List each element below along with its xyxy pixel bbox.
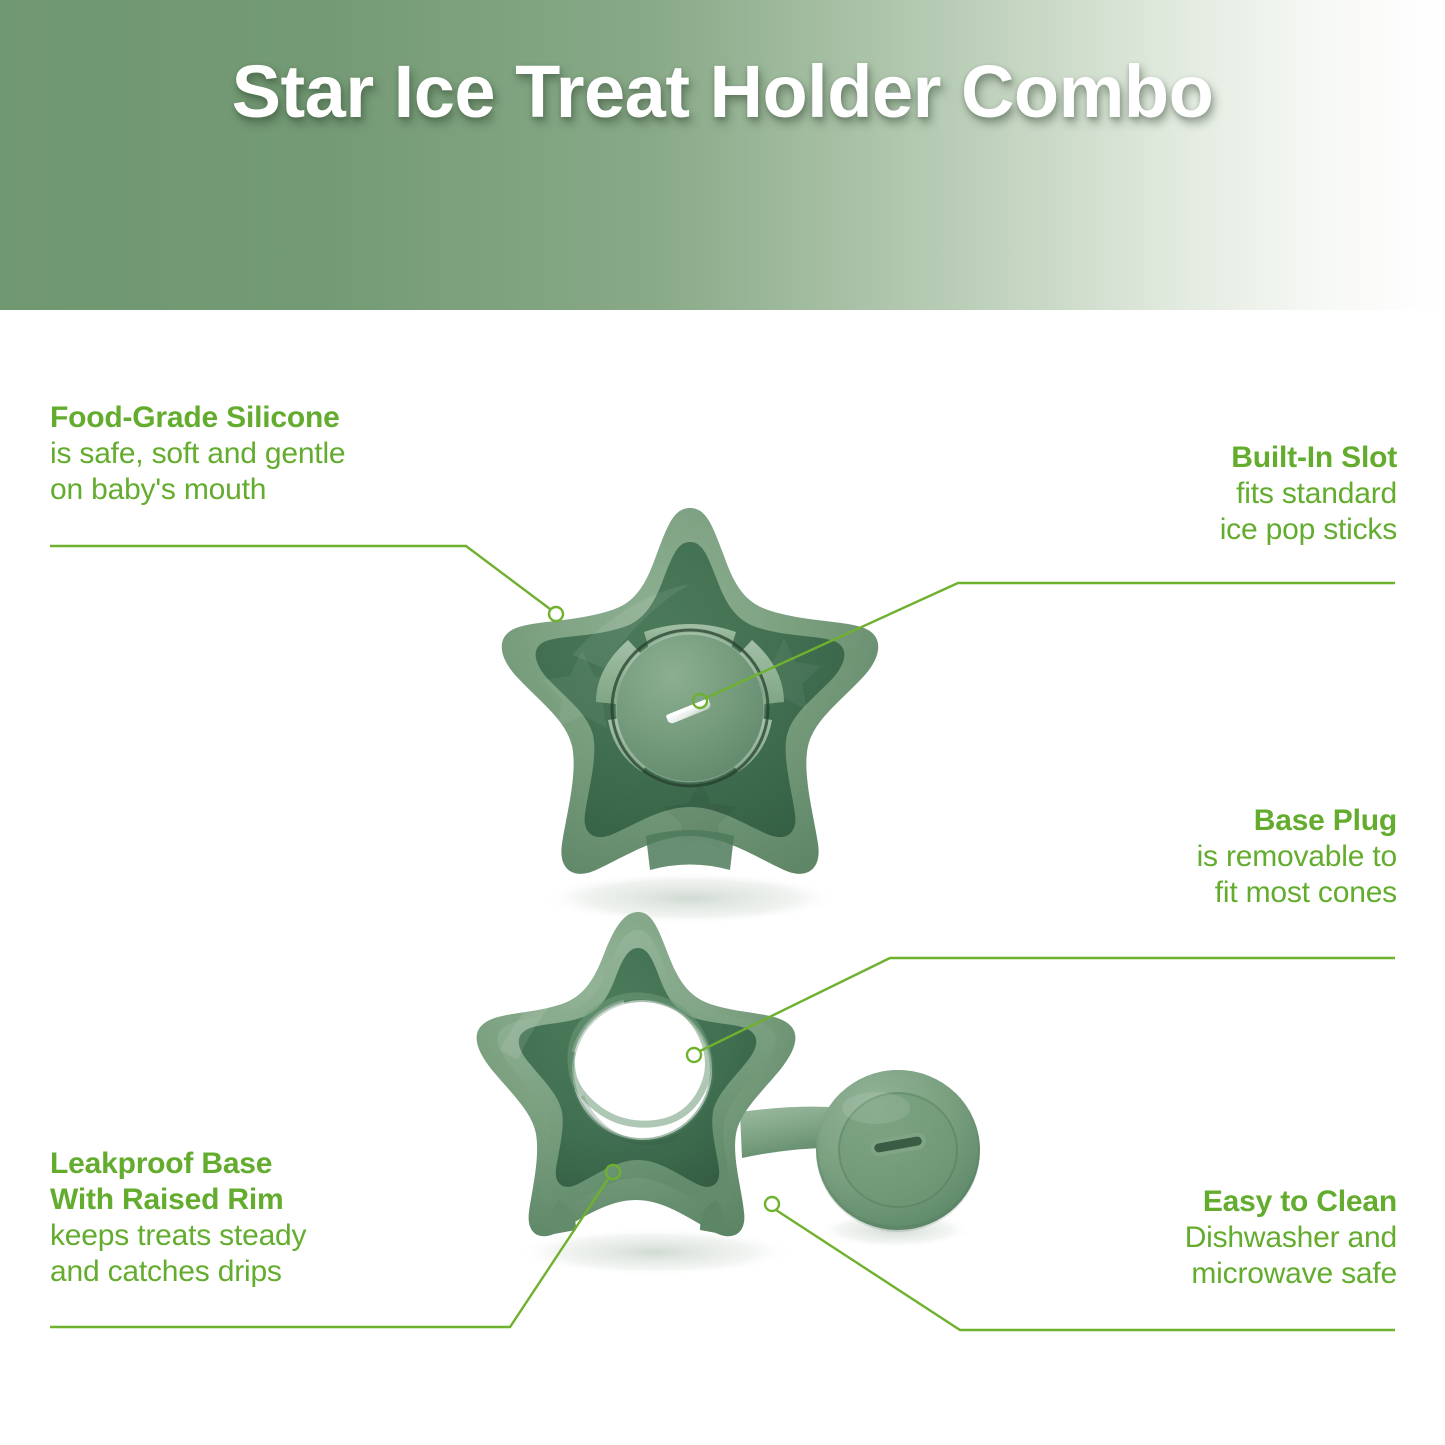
feature-base-plug: Base Plug is removable to fit most cones [967, 803, 1397, 911]
feature-title-line-1: Leakproof Base [50, 1146, 470, 1182]
infographic-canvas: Star Ice Treat Holder Combo [0, 0, 1445, 1445]
product-image-star-holder-top-view [432, 480, 952, 940]
detached-base-plug [816, 1070, 980, 1232]
star-bottom-foot [646, 830, 734, 870]
feature-title: Food-Grade Silicone [50, 400, 470, 436]
feature-body-line-1: is safe, soft and gentle [50, 436, 470, 472]
feature-body-line-1: Dishwasher and [967, 1220, 1397, 1256]
feature-title: Built-In Slot [967, 440, 1397, 476]
feature-easy-to-clean: Easy to Clean Dishwasher and microwave s… [967, 1184, 1397, 1292]
feature-food-grade-silicone: Food-Grade Silicone is safe, soft and ge… [50, 400, 470, 508]
feature-body-line-2: fit most cones [967, 875, 1397, 911]
feature-body-line-2: and catches drips [50, 1254, 470, 1290]
feature-built-in-slot: Built-In Slot fits standard ice pop stic… [967, 440, 1397, 548]
feature-title: Easy to Clean [967, 1184, 1397, 1220]
page-title: Star Ice Treat Holder Combo [0, 0, 1445, 310]
product-image-star-holder-plug-removed [440, 900, 1040, 1290]
feature-body-line-2: ice pop sticks [967, 512, 1397, 548]
feature-body-line-1: is removable to [967, 839, 1397, 875]
feature-leakproof-base: Leakproof Base With Raised Rim keeps tre… [50, 1146, 470, 1290]
feature-body-line-2: microwave safe [967, 1256, 1397, 1292]
feature-body-line-1: fits standard [967, 476, 1397, 512]
feature-title: Base Plug [967, 803, 1397, 839]
feature-body-line-1: keeps treats steady [50, 1218, 470, 1254]
star-shadow [515, 1228, 795, 1276]
feature-body-line-2: on baby's mouth [50, 472, 470, 508]
feature-title-line-2: With Raised Rim [50, 1182, 470, 1218]
